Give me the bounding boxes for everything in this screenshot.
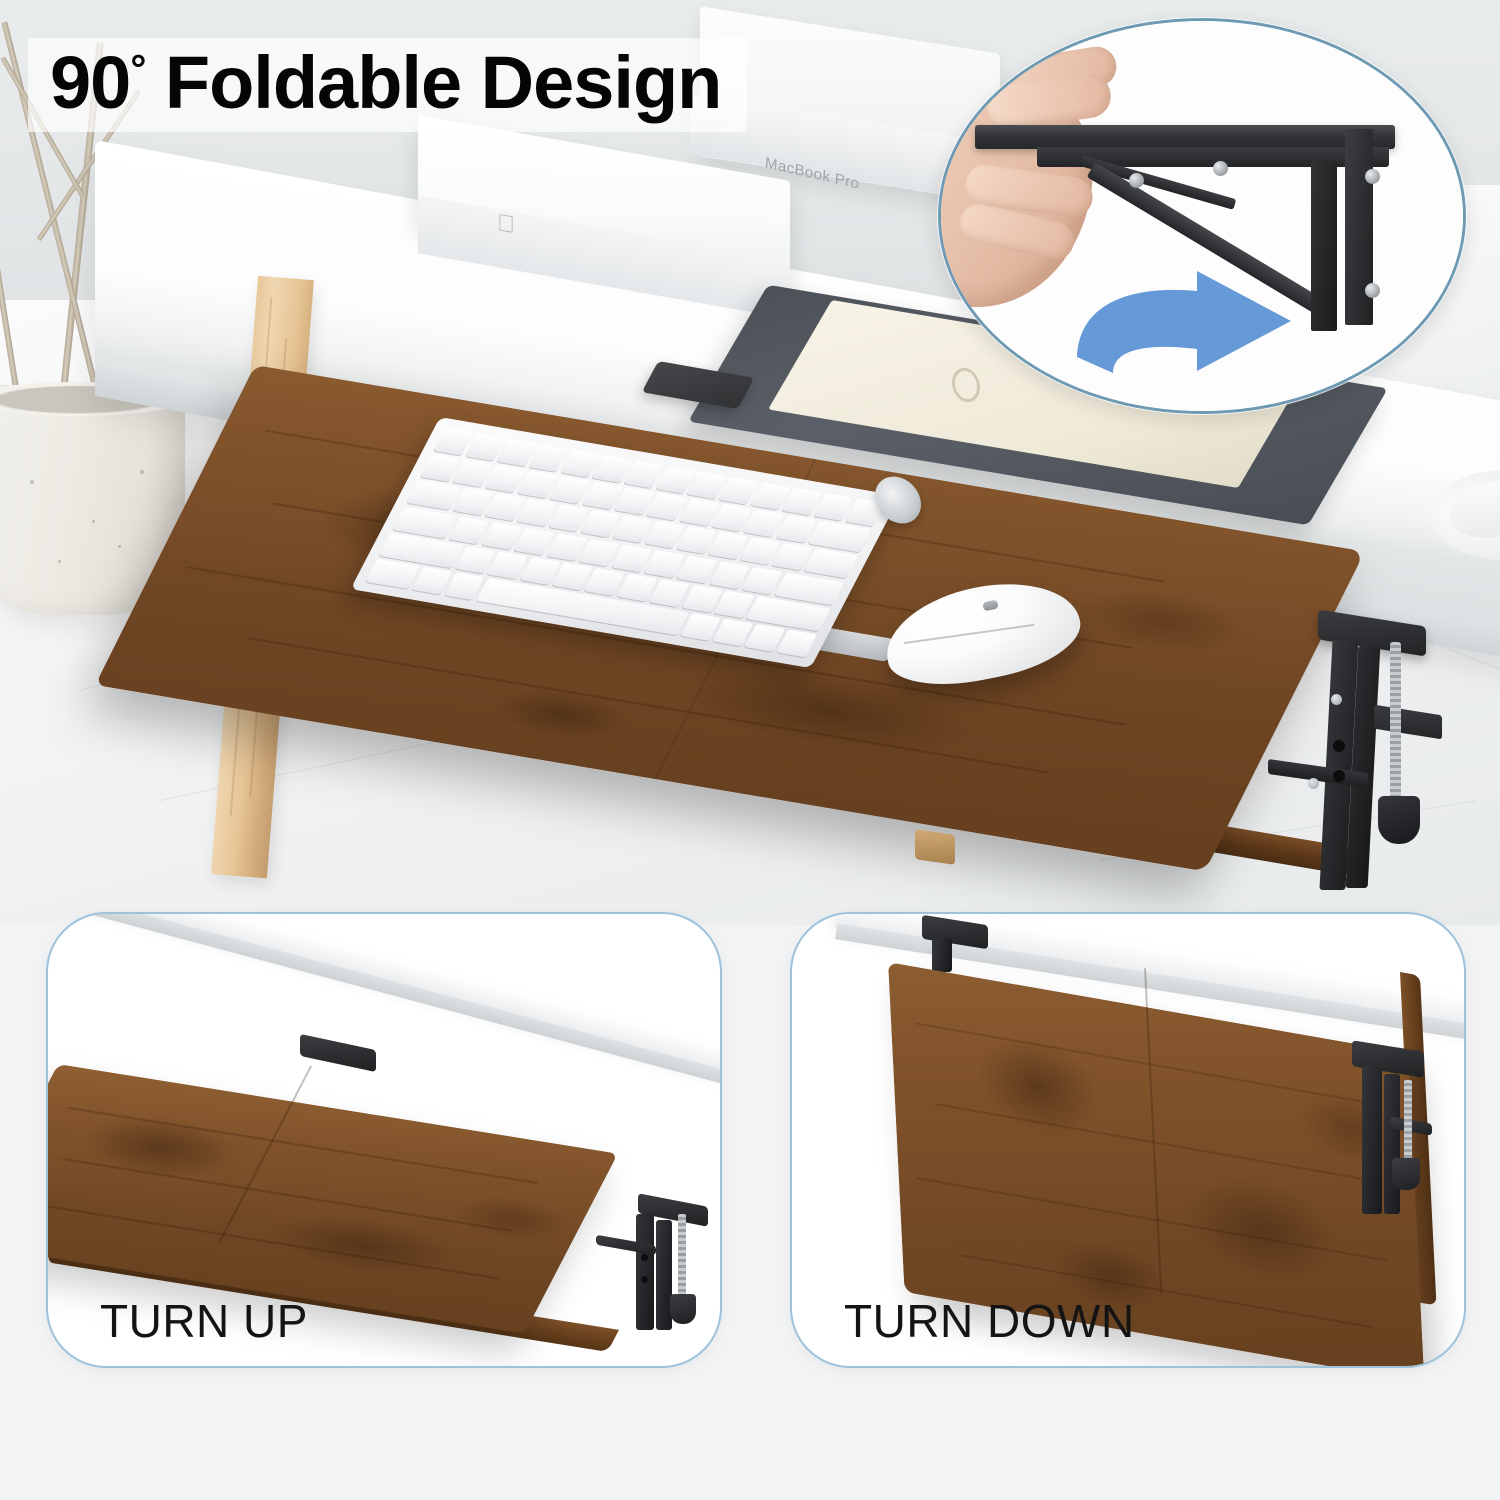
turn-up-panel: TURN UP: [46, 912, 722, 1368]
turn-down-panel: TURN DOWN: [790, 912, 1466, 1368]
bracket-pivot: [1213, 161, 1228, 176]
clamp-knob: [1392, 1158, 1420, 1190]
apple-logo-icon: : [497, 211, 519, 240]
bracket-top-plate: [975, 125, 1395, 149]
pot-speck: [118, 545, 121, 548]
clamp-knob: [670, 1294, 696, 1324]
bracket-pivot: [1365, 283, 1380, 298]
headline-band: 90° Foldable Design: [28, 38, 747, 132]
clamp-vertical-left: [932, 938, 952, 972]
headline-rest: Foldable Design: [145, 41, 721, 124]
bracket-pivot: [1129, 173, 1144, 188]
tray-support-foot: [915, 829, 955, 865]
clamp-hole: [1333, 740, 1345, 752]
clamp-knob: [1378, 796, 1420, 844]
degree-symbol-icon: °: [130, 47, 145, 91]
desk-clamp: [1290, 618, 1450, 900]
keyboard-tray-assembly: [255, 365, 1395, 865]
hero-scene:  MacBook Pro: [0, 0, 1500, 925]
clamp-screw: [678, 1214, 686, 1300]
clamp-screw: [1404, 1080, 1412, 1164]
clamp-vertical-plate: [1362, 1066, 1382, 1214]
pot-speck: [140, 470, 144, 474]
page-title: 90° Foldable Design: [50, 46, 721, 120]
clamp-hole: [641, 1276, 648, 1283]
pot-speck: [92, 520, 95, 523]
clamp-vertical-plate-back: [1384, 1074, 1400, 1214]
product-infographic:  MacBook Pro: [0, 0, 1500, 1500]
clamp-vertical-plate: [636, 1214, 654, 1330]
fold-direction-arrow: [1069, 269, 1339, 379]
pot-speck: [58, 560, 61, 563]
bracket-pivot: [1365, 169, 1380, 184]
clamp-hole: [641, 1254, 648, 1261]
bracket-closeup-callout: [938, 18, 1466, 414]
clamp-hole: [1333, 770, 1345, 782]
headline-angle: 90: [50, 41, 130, 124]
panel-label: TURN UP: [100, 1294, 308, 1348]
clamp-bracket-shelf: [1374, 705, 1442, 740]
clamp-bolt: [1308, 778, 1319, 789]
clamp-screw: [1390, 642, 1401, 802]
pot-speck: [30, 480, 34, 484]
panel-label: TURN DOWN: [844, 1294, 1135, 1348]
clamp-bolt: [1331, 694, 1342, 705]
